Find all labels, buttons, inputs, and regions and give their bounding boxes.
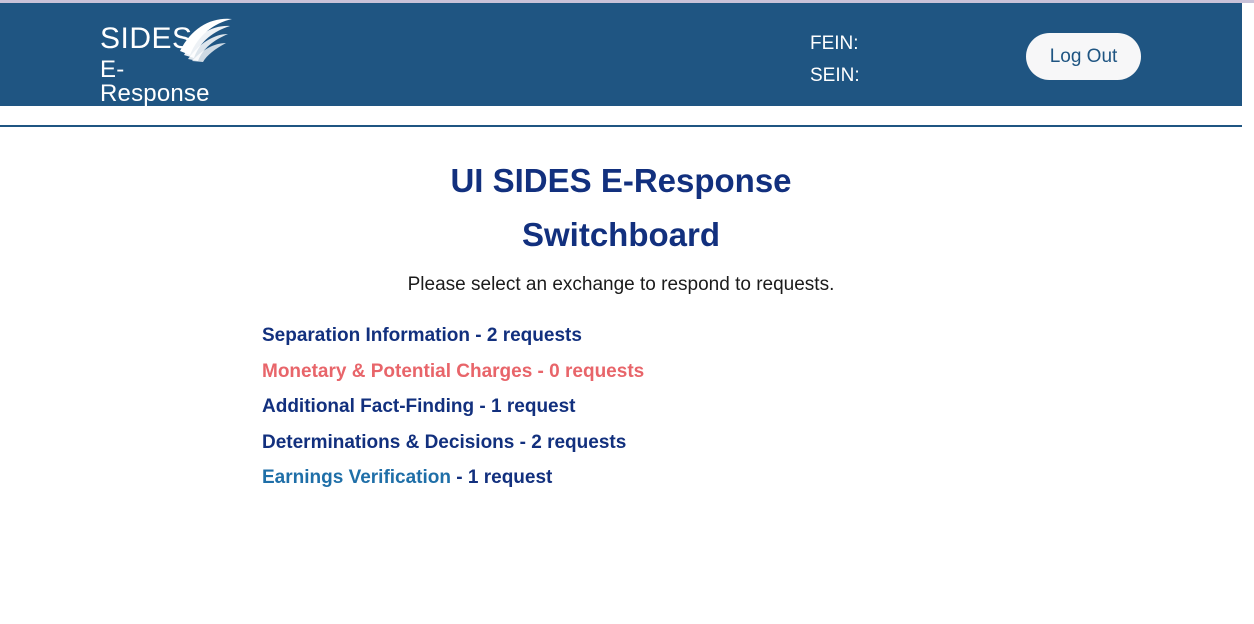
- list-item: Monetary & Potential Charges - 0 request…: [262, 354, 644, 390]
- page-title-line2: Switchboard: [0, 208, 1242, 262]
- list-item: Separation Information - 2 requests: [262, 318, 644, 354]
- exchange-link-additional-fact-finding[interactable]: Additional Fact-Finding: [262, 396, 474, 417]
- page-title-line1: UI SIDES E-Response: [450, 162, 791, 199]
- exchange-link-monetary-potential-charges: Monetary & Potential Charges: [262, 361, 532, 382]
- sein-label: SEIN:: [810, 60, 860, 92]
- account-identifiers: FEIN: SEIN:: [810, 28, 860, 92]
- sides-eresponse-logo: SIDES E-Response: [100, 22, 230, 88]
- list-item: Earnings Verification - 1 request: [262, 460, 644, 496]
- page-title: UI SIDES E-Response Switchboard: [0, 127, 1242, 262]
- page-subtitle: Please select an exchange to respond to …: [0, 262, 1242, 294]
- exchange-count-earnings-verification: - 1 request: [451, 467, 552, 488]
- exchange-link-earnings-verification[interactable]: Earnings Verification: [262, 467, 451, 488]
- fein-label: FEIN:: [810, 28, 860, 60]
- logout-button[interactable]: Log Out: [1026, 33, 1141, 80]
- site-header: SIDES E-Response FEIN: SEIN: Log Out: [0, 3, 1242, 106]
- exchange-count-monetary-potential-charges: - 0 requests: [532, 361, 644, 382]
- exchange-count-additional-fact-finding: - 1 request: [474, 396, 575, 417]
- exchange-link-determinations-decisions[interactable]: Determinations & Decisions: [262, 432, 514, 453]
- exchange-link-separation-information[interactable]: Separation Information: [262, 325, 470, 346]
- exchange-list: Separation Information - 2 requests Mone…: [262, 318, 644, 496]
- main-content: UI SIDES E-Response Switchboard Please s…: [0, 127, 1242, 624]
- list-item: Additional Fact-Finding - 1 request: [262, 389, 644, 425]
- wave-swoosh-icon: [178, 17, 234, 63]
- logo-eresponse-text: E-Response: [100, 58, 230, 106]
- list-item: Determinations & Decisions - 2 requests: [262, 425, 644, 461]
- exchange-count-determinations-decisions: - 2 requests: [514, 432, 626, 453]
- exchange-count-separation-information: - 2 requests: [470, 325, 582, 346]
